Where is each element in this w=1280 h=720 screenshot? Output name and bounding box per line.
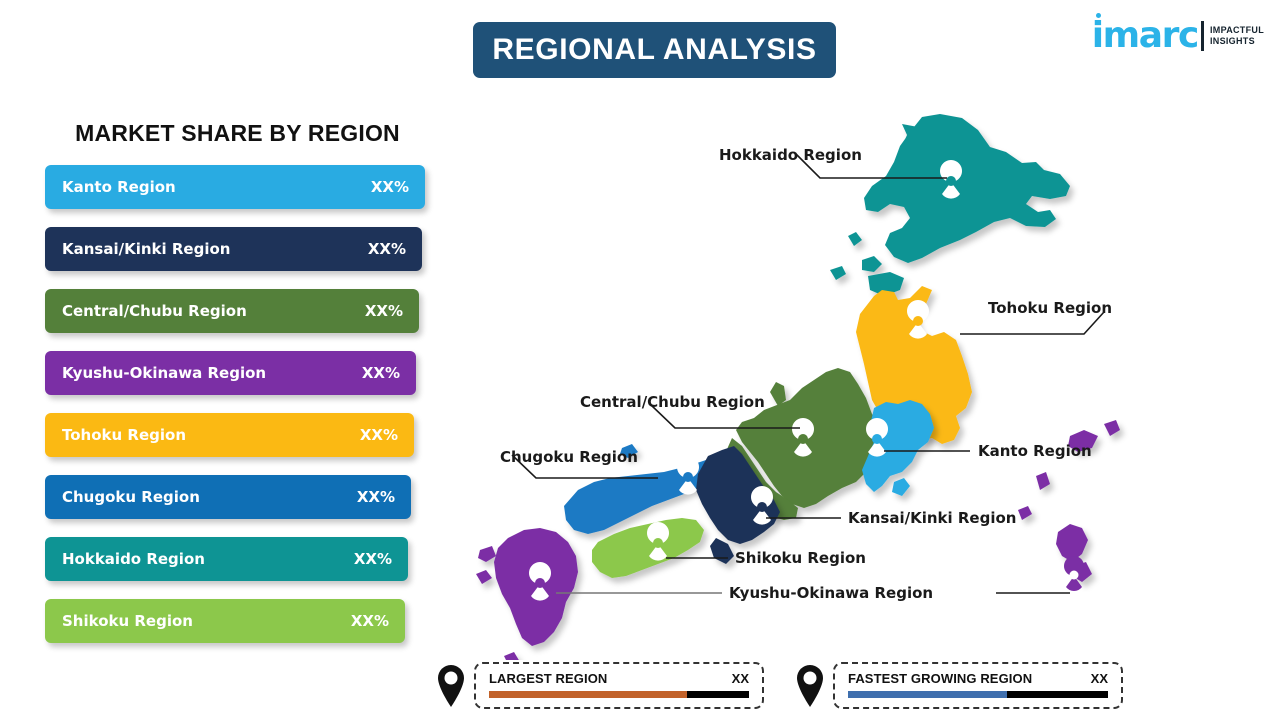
logo-divider (1201, 21, 1204, 51)
largest-region-box: LARGEST REGION XX (474, 662, 764, 709)
legend-title: MARKET SHARE BY REGION (45, 120, 430, 147)
fastest-growing-value: XX (1091, 671, 1108, 686)
fastest-growing-caption: FASTEST GROWING REGION (848, 671, 1032, 686)
legend-row-value: XX% (351, 612, 389, 630)
largest-region-value: XX (732, 671, 749, 686)
legend-row-label: Hokkaido Region (62, 550, 205, 568)
legend-row[interactable]: Kyushu-Okinawa RegionXX% (45, 351, 416, 395)
map-label-shikoku: Shikoku Region (735, 549, 866, 567)
legend-row-label: Central/Chubu Region (62, 302, 247, 320)
legend-row-label: Tohoku Region (62, 426, 186, 444)
legend-row[interactable]: Shikoku RegionXX% (45, 599, 405, 643)
largest-region-progress-fill (489, 691, 687, 698)
legend-row[interactable]: Chugoku RegionXX% (45, 475, 411, 519)
map-label-kyushu: Kyushu-Okinawa Region (729, 584, 933, 602)
imarc-logo: imarc IMPACTFUL INSIGHTS (1092, 16, 1264, 56)
legend-row-label: Kansai/Kinki Region (62, 240, 230, 258)
location-pin-icon (436, 664, 466, 708)
largest-region-caption: LARGEST REGION (489, 671, 607, 686)
largest-region-progress-track (489, 691, 749, 698)
legend-row-value: XX% (362, 364, 400, 382)
logo-wordmark-text: imarc (1092, 15, 1198, 56)
market-share-panel: MARKET SHARE BY REGION Kanto RegionXX%Ka… (45, 120, 445, 661)
fastest-growing-progress-track (848, 691, 1108, 698)
legend-row[interactable]: Hokkaido RegionXX% (45, 537, 408, 581)
legend-row[interactable]: Kanto RegionXX% (45, 165, 425, 209)
legend-row-value: XX% (365, 302, 403, 320)
location-pin-icon (795, 664, 825, 708)
logo-tagline-line1: IMPACTFUL (1210, 25, 1264, 36)
logo-tagline: IMPACTFUL INSIGHTS (1210, 25, 1264, 48)
fastest-growing-region-box: FASTEST GROWING REGION XX (833, 662, 1123, 709)
header-banner: REGIONAL ANALYSIS (473, 22, 836, 78)
legend-row[interactable]: Tohoku RegionXX% (45, 413, 414, 457)
legend-row-label: Kanto Region (62, 178, 176, 196)
map-pins (529, 160, 1084, 601)
legend-row-value: XX% (354, 550, 392, 568)
page-title: REGIONAL ANALYSIS (492, 33, 816, 67)
logo-dot-icon (1096, 13, 1101, 18)
legend-row-value: XX% (371, 178, 409, 196)
map-svg (470, 100, 1260, 660)
map-label-tohoku: Tohoku Region (988, 299, 1112, 317)
fastest-growing-region-callout: FASTEST GROWING REGION XX (795, 662, 1123, 709)
map-label-hokkaido: Hokkaido Region (719, 146, 862, 164)
legend-row[interactable]: Kansai/Kinki RegionXX% (45, 227, 422, 271)
legend-row-label: Shikoku Region (62, 612, 193, 630)
largest-region-callout: LARGEST REGION XX (436, 662, 764, 709)
legend-row-label: Chugoku Region (62, 488, 200, 506)
legend-row-value: XX% (357, 488, 395, 506)
legend-row-value: XX% (360, 426, 398, 444)
legend-row-value: XX% (368, 240, 406, 258)
map-label-chubu: Central/Chubu Region (580, 393, 765, 411)
logo-tagline-line2: INSIGHTS (1210, 36, 1264, 47)
legend-list: Kanto RegionXX%Kansai/Kinki RegionXX%Cen… (45, 165, 445, 643)
legend-row-label: Kyushu-Okinawa Region (62, 364, 266, 382)
slide-canvas: REGIONAL ANALYSIS imarc IMPACTFUL INSIGH… (0, 0, 1280, 720)
logo-wordmark: imarc (1092, 18, 1198, 54)
map-label-kansai: Kansai/Kinki Region (848, 509, 1016, 527)
japan-regions-map: Hokkaido Region Tohoku Region Central/Ch… (470, 100, 1260, 660)
map-region-hokkaido[interactable] (830, 114, 1070, 296)
map-label-kanto: Kanto Region (978, 442, 1092, 460)
legend-row[interactable]: Central/Chubu RegionXX% (45, 289, 419, 333)
fastest-growing-progress-fill (848, 691, 1007, 698)
map-label-chugoku: Chugoku Region (500, 448, 638, 466)
